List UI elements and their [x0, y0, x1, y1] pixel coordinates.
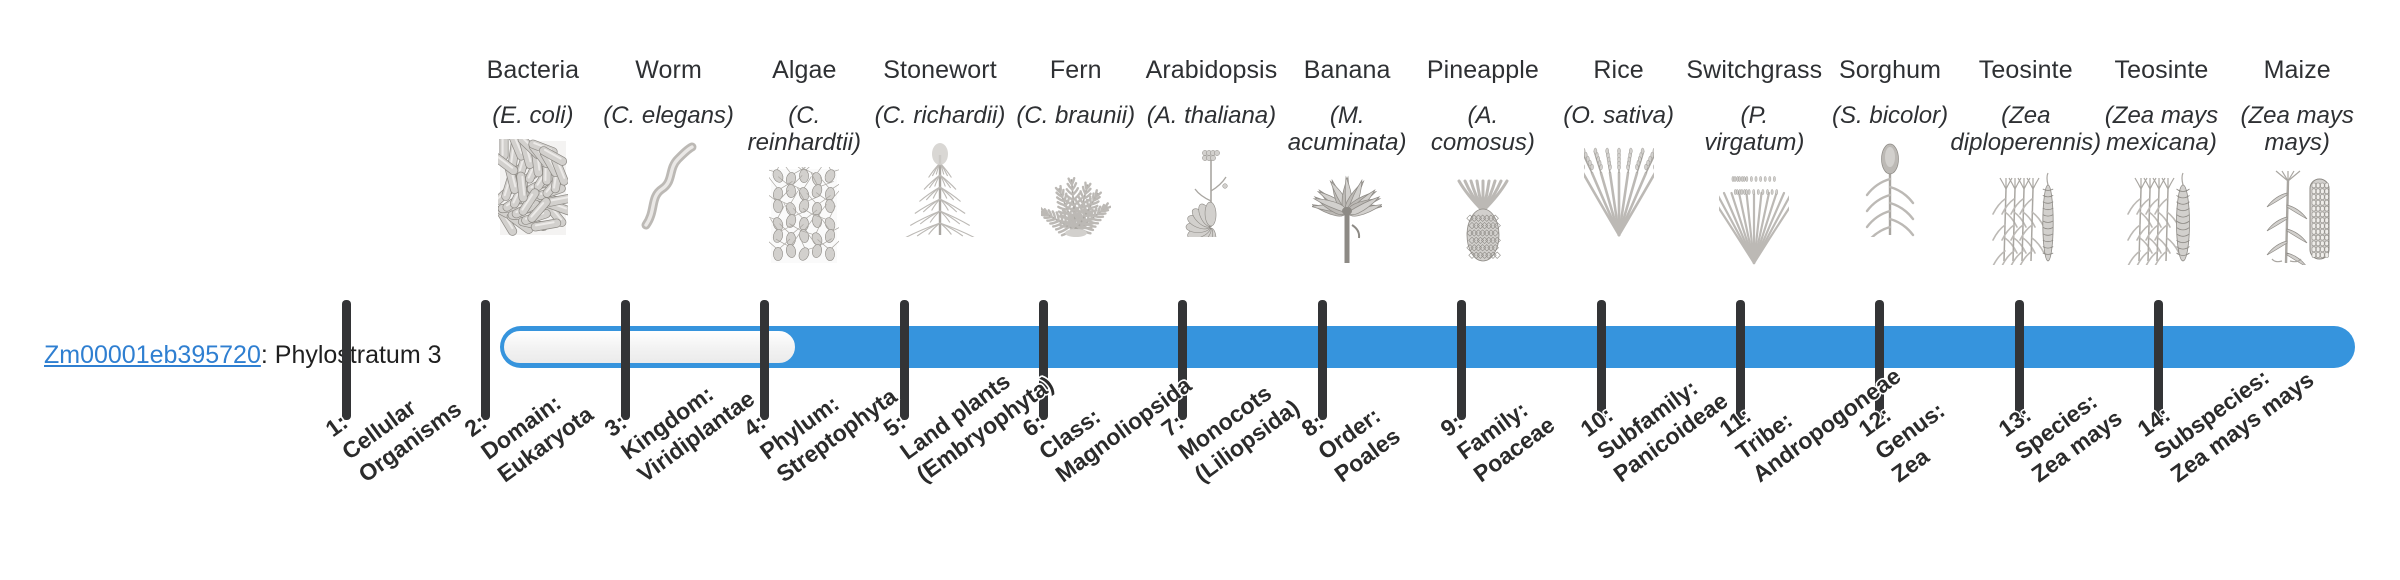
species-column: Sorghum(S. bicolor) [1822, 56, 1958, 237]
species-common-name: Worm [635, 56, 702, 86]
species-column: Bacteria(E. coli) [465, 56, 601, 237]
rice-illustration [1551, 139, 1687, 237]
species-scientific-name: (A. comosus) [1415, 102, 1551, 157]
species-scientific-name: (C. braunii) [1014, 102, 1137, 130]
species-scientific-name: (Zea mays mays) [2229, 102, 2365, 157]
switchgrass-illustration [1686, 167, 1822, 265]
species-scientific-name: (C. elegans) [601, 102, 736, 130]
species-scientific-name: (E. coli) [490, 102, 575, 130]
species-common-name: Rice [1593, 56, 1643, 86]
species-common-name: Teosinte [2115, 56, 2209, 86]
species-common-name: Bacteria [487, 56, 580, 86]
species-column: Maize(Zea mays mays) [2229, 56, 2365, 265]
banana-illustration [1279, 167, 1415, 265]
worm-illustration [601, 139, 737, 237]
sorghum-illustration [1822, 139, 1958, 237]
species-scientific-name: (S. bicolor) [1830, 102, 1950, 130]
phylostratum-figure: Bacteria(E. coli)Worm(C. elegans)Algae(C… [0, 0, 2400, 580]
species-scientific-name: (C. reinhardtii) [736, 102, 872, 157]
species-header-row: Bacteria(E. coli)Worm(C. elegans)Algae(C… [465, 56, 2365, 306]
species-common-name: Switchgrass [1686, 56, 1822, 86]
species-column: Worm(C. elegans) [601, 56, 737, 237]
bacteria-illustration [465, 139, 601, 237]
stonewort-illustration [872, 139, 1008, 237]
species-common-name: Sorghum [1839, 56, 1941, 86]
species-scientific-name: (Zea diploperennis) [1948, 102, 2103, 157]
arabidopsis-illustration [1144, 139, 1280, 237]
species-column: Teosinte(Zea mays mexicana) [2094, 56, 2230, 265]
species-column: Pineapple(A. comosus) [1415, 56, 1551, 265]
species-scientific-name: (A. thaliana) [1145, 102, 1278, 130]
species-common-name: Stonewort [883, 56, 996, 86]
teosinte-diploperennis-illustration [1958, 167, 2094, 265]
fern-illustration [1008, 139, 1144, 237]
species-common-name: Banana [1304, 56, 1391, 86]
pineapple-illustration [1415, 167, 1551, 265]
species-column: Banana(M. acuminata) [1279, 56, 1415, 265]
species-column: Stonewort(C. richardii) [872, 56, 1008, 237]
species-common-name: Arabidopsis [1146, 56, 1278, 86]
algae-illustration [736, 167, 872, 265]
species-column: Teosinte(Zea diploperennis) [1958, 56, 2094, 265]
species-common-name: Pineapple [1427, 56, 1539, 86]
species-scientific-name: (C. richardii) [873, 102, 1008, 130]
teosinte-mexicana-illustration [2094, 167, 2230, 265]
species-common-name: Algae [772, 56, 836, 86]
species-scientific-name: (Zea mays mexicana) [2094, 102, 2230, 157]
species-scientific-name: (P. virgatum) [1686, 102, 1822, 157]
species-column: Rice(O. sativa) [1551, 56, 1687, 237]
species-common-name: Teosinte [1979, 56, 2073, 86]
species-column: Arabidopsis(A. thaliana) [1144, 56, 1280, 237]
species-common-name: Fern [1050, 56, 1102, 86]
maize-illustration [2229, 167, 2365, 265]
species-scientific-name: (M. acuminata) [1279, 102, 1415, 157]
species-column: Algae(C. reinhardtii) [736, 56, 872, 265]
species-common-name: Maize [2264, 56, 2331, 86]
taxonomy-level-row: 1: Cellular Organisms2: Domain: Eukaryot… [0, 420, 2400, 580]
species-column: Fern(C. braunii) [1008, 56, 1144, 237]
species-scientific-name: (O. sativa) [1561, 102, 1676, 130]
species-column: Switchgrass(P. virgatum) [1686, 56, 1822, 265]
